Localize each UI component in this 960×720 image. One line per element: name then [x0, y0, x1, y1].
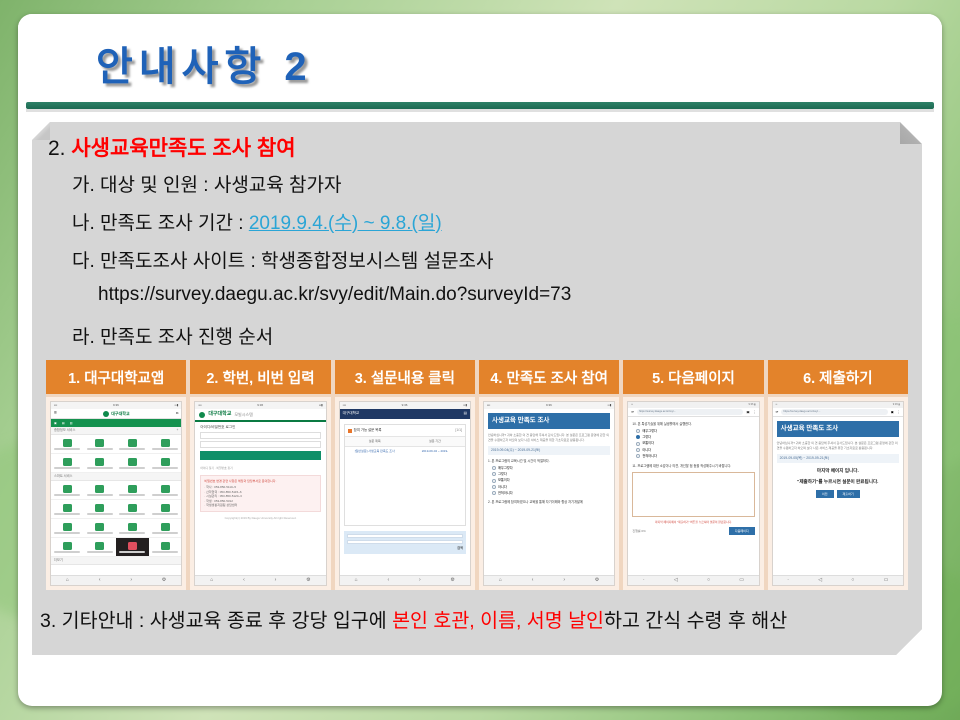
- radio-icon[interactable]: [492, 466, 496, 470]
- app-tile[interactable]: [51, 538, 84, 557]
- app-tile-label: [152, 532, 178, 534]
- browser-url-bar-5[interactable]: ⟳ https://survey.daegu.ac.kr/svy/... ▣ ⋮: [628, 408, 758, 417]
- app-section-label-1: 종합정보 서비스: [54, 428, 75, 433]
- app-tile-icon: [63, 439, 72, 447]
- app-tile-icon: [63, 504, 72, 512]
- menu-icon[interactable]: ▤: [464, 411, 467, 416]
- app-tile-icon: [128, 439, 137, 447]
- app-name-1: 대구대학교: [111, 411, 129, 417]
- survey-option[interactable]: 전혀아니다: [636, 454, 754, 459]
- survey-option[interactable]: 보통이다: [492, 478, 610, 483]
- list-label-na: 만족도 조사 기간 :: [100, 213, 249, 234]
- home-icon[interactable]: ⌂: [499, 577, 502, 585]
- survey-list-card: 참여 가능 설문 목록 [1/1] 설문 제목 설문 기간 [일반설문] 사생교…: [344, 424, 466, 526]
- bullet-square-icon: [348, 429, 352, 433]
- logo-mark-icon: [199, 412, 205, 418]
- app-tile[interactable]: [84, 500, 117, 519]
- survey-comment-textarea[interactable]: [632, 472, 754, 517]
- page-title: 안내사항 2: [96, 34, 313, 92]
- login-notice-title: 비밀번호 변경 관련 사항은 해당과 담당부서로 문의합니다.: [204, 479, 316, 484]
- portal-brand: 대구대학교: [208, 411, 231, 419]
- list-text-ga: 대상 및 인원 : 사생교육 참가자: [100, 175, 341, 196]
- footer-pre-text: 기타안내 : 사생교육 종료 후 강당 입구에: [56, 610, 392, 632]
- phone-frame-6: ▪▪9:36 ▮ ⟳ https://survey.daegu.ac.kr/sv…: [772, 401, 904, 586]
- overflow-menu-icon[interactable]: ⋮: [752, 410, 755, 415]
- radio-icon[interactable]: [492, 491, 496, 495]
- login-form-label: 아이디/비밀번호 로그인: [195, 422, 325, 430]
- slide-card: 안내사항 2 2. 사생교육만족도 조사 참여 가. 대상 및 인원 : 사생교…: [18, 14, 942, 706]
- previous-button[interactable]: 이전: [816, 490, 834, 499]
- app-tile[interactable]: [116, 519, 149, 538]
- option-label: 보통이다: [642, 441, 654, 446]
- app-section-1: 종합정보 서비스 +: [51, 427, 181, 435]
- step-header-4[interactable]: 4. 만족도 조사 참여: [479, 360, 619, 394]
- app-tile-icon: [95, 542, 104, 550]
- phone-body-6: 사생교육 만족도 조사 안녕하십니까? 귀하 소중한 의 견 응답해 주셔서 감…: [773, 417, 903, 575]
- app-tile[interactable]: [84, 538, 117, 557]
- last-page-message-2: "제출하기"를 누르시면 설문이 완료됩니다.: [779, 478, 897, 485]
- phone-frame-3: ▪▪▪9:36▪▪▮ 대구대학교 ▤ 참여 가능 설문 목록 [1/1]: [339, 401, 471, 586]
- app-tile-label: [119, 513, 145, 515]
- submit-warning-text: 마지막 페이지에서 "제출하기" 버튼을 누르셔야 설문이 완료됩니다.: [632, 520, 754, 524]
- survey-title-banner: 사생교육 만족도 조사: [488, 413, 610, 429]
- section-heading: 2. 사생교육만족도 조사 참여: [48, 132, 296, 162]
- app-tile-label: [152, 513, 178, 515]
- app-tile[interactable]: [84, 519, 117, 538]
- app-tile-label: [152, 448, 178, 450]
- app-tile-icon: [161, 504, 170, 512]
- step-header-1[interactable]: 1. 대구대학교앱: [46, 360, 186, 394]
- tabs-icon[interactable]: ▣: [891, 410, 894, 415]
- progress-label: 진행률 0%: [632, 529, 645, 534]
- option-label: 매우그렇다: [642, 429, 657, 434]
- app-tile-label: [119, 448, 145, 450]
- app-tile-label: [87, 448, 113, 450]
- phone-frame-5: ▪▪9:36 ▮ ⟳ https://survey.daegu.ac.kr/sv…: [627, 401, 759, 586]
- app-tile-label: [54, 513, 80, 515]
- survey-list-paging: [1/1]: [455, 428, 462, 433]
- step-screenshot-6: ▪▪9:36 ▮ ⟳ https://survey.daegu.ac.kr/sv…: [768, 397, 908, 590]
- login-password-input[interactable]: [200, 441, 320, 448]
- survey-row-period: 2019-09-04 ~ 2019-: [405, 447, 465, 456]
- search-field-row-1[interactable]: [347, 534, 463, 538]
- back-icon[interactable]: ‹: [99, 577, 101, 585]
- app-tile-icon: [95, 439, 104, 447]
- steps-table: 1. 대구대학교앱 2. 학번, 비번 입력 3. 설문내용 클릭 4. 만족도…: [46, 360, 908, 590]
- option-label: 아니다: [498, 485, 507, 490]
- survey-table-row[interactable]: [일반설문] 사생교육 만족도 조사 2019-09-04 ~ 2019-: [345, 447, 465, 456]
- browser-url-bar-6[interactable]: ⟳ https://survey.daegu.ac.kr/svy/... ▣ ⋮: [773, 408, 903, 417]
- survey-title-banner-6: 사생교육 만족도 조사: [777, 421, 899, 437]
- survey-period: 2019-09-04(수) ~ 2019-09-21(토): [488, 446, 610, 455]
- phone-frame-2: ▪▪▪9:36▪▪▮ 대구대학교 모빌시스템 아이디/비밀번호 로그인: [194, 401, 326, 586]
- tabs-icon[interactable]: ▣: [746, 410, 749, 415]
- app-tile-label: [152, 467, 178, 469]
- radio-icon[interactable]: [636, 442, 640, 446]
- survey-question-1: 1. 본 프로그램의 교육시간 및 시간이 적절하다.: [488, 459, 610, 464]
- app-quickbar: ▣▤▥: [51, 419, 181, 427]
- app-tile-icon: [128, 485, 137, 493]
- step-header-5[interactable]: 5. 다음페이지: [623, 360, 763, 394]
- app-tile-survey-highlighted[interactable]: [116, 538, 149, 557]
- app-tile-icon: [95, 458, 104, 466]
- app-tile-label: [54, 494, 80, 496]
- last-page-message-1: 마지막 페이지 입니다.: [779, 467, 897, 474]
- external-link-icon[interactable]: ⧉: [176, 411, 178, 416]
- survey-list-title-row: 참여 가능 설문 목록 [1/1]: [345, 425, 465, 436]
- list-marker-da: 다.: [72, 251, 95, 272]
- settings-icon[interactable]: ⚙: [306, 577, 310, 585]
- home-icon[interactable]: ⌂: [355, 577, 358, 585]
- nav-bar-6: · ◁ ○ ▭: [773, 575, 903, 585]
- app-tile[interactable]: [51, 519, 84, 538]
- app-tile-icon: [128, 523, 137, 531]
- list-marker-na: 나.: [72, 213, 95, 234]
- survey-description-6: 안녕하십니까? 귀하 소중한 의 견 응답해 주셔서 감사드립니다. 본 설문은…: [777, 441, 899, 451]
- step-header-6[interactable]: 6. 제출하기: [768, 360, 908, 394]
- recent-apps-icon[interactable]: ▭: [739, 577, 744, 585]
- portal-system-name: 모빌시스템: [234, 412, 252, 418]
- app-tile[interactable]: [84, 435, 117, 454]
- app-tile-label: [87, 551, 113, 553]
- refresh-icon[interactable]: ⟳: [776, 410, 779, 415]
- survey-tile-icon: [128, 542, 137, 550]
- app-tile-icon: [161, 523, 170, 531]
- step-screenshot-1: ▪▪▪9:36▪▪▮ ☰ 대구대학교 ⧉ ▣▤▥: [46, 397, 186, 590]
- section-number: 2.: [48, 137, 66, 160]
- home-icon[interactable]: ⌂: [210, 577, 213, 585]
- login-button[interactable]: [200, 451, 320, 460]
- app-tile[interactable]: [116, 500, 149, 519]
- login-help-links[interactable]: 아이디 찾기 · 비밀번호 찾기: [195, 463, 325, 470]
- app-tile[interactable]: [149, 454, 182, 473]
- survey-app-header: 대구대학교 ▤: [340, 409, 470, 419]
- back-icon[interactable]: ◁: [674, 577, 678, 585]
- radio-icon-selected[interactable]: [636, 435, 640, 439]
- survey-table-header: 설문 제목 설문 기간: [345, 436, 465, 447]
- survey-url[interactable]: https://survey.daegu.ac.kr/svy/edit/Main…: [98, 284, 571, 306]
- app-tile-label: [87, 467, 113, 469]
- survey-description: 안녕하십니까? 귀하 소중한 의 견 응답해 주셔서 감사드립니다. 본 설문은…: [488, 433, 610, 443]
- login-notice-box: 비밀번호 변경 관련 사항은 해당과 담당부서로 문의합니다. · 학사 : 0…: [200, 475, 320, 512]
- nav-bar-5: · ◁ ○ ▭: [628, 575, 758, 585]
- option-label: 아니다: [642, 448, 651, 453]
- app-tile-icon: [128, 504, 137, 512]
- app-tile-icon: [161, 458, 170, 466]
- app-tile-icon: [128, 458, 137, 466]
- footer-post-text: 하고 간식 수령 후 해산: [604, 610, 787, 632]
- app-tile[interactable]: [51, 454, 84, 473]
- app-tile[interactable]: [51, 435, 84, 454]
- phone-body-1: ☰ 대구대학교 ⧉ ▣▤▥ 종합정보 서비스 +: [51, 409, 181, 575]
- option-label: 전혀아니다: [642, 454, 657, 459]
- survey-row-title[interactable]: [일반설문] 사생교육 만족도 조사: [345, 447, 405, 456]
- back-icon[interactable]: ◁: [818, 577, 822, 585]
- survey-question-2: 2. 본 프로그램에 참여하였으나 교육을 통해 자기이해와 향상 자기개발에: [488, 500, 610, 505]
- app-tile-label: [54, 467, 80, 469]
- app-tile-icon: [63, 523, 72, 531]
- footer-note: 3. 기타안내 : 사생교육 종료 후 강당 입구에 본인 호관, 이름, 서명…: [40, 604, 914, 633]
- portal-header: 대구대학교 모빌시스템: [195, 409, 325, 422]
- survey-option-selected[interactable]: 그렇다: [636, 435, 754, 440]
- title-zone: 안내사항 2: [18, 14, 942, 102]
- app-tile-icon: [63, 458, 72, 466]
- app-icon-grid-1: [51, 435, 181, 473]
- step-screenshot-4: ▪▪▪9:36▪▪▮ 사생교육 만족도 조사 안녕하십니까? 귀하 소중한 의 …: [479, 397, 619, 590]
- list-item-ra: 라. 만족도 조사 진행 순서: [72, 322, 273, 349]
- app-tile[interactable]: [84, 454, 117, 473]
- section-heading-text: 사생교육만족도 조사 참여: [71, 137, 295, 160]
- submit-button[interactable]: 제출하기: [837, 490, 860, 499]
- step-screenshot-2: ▪▪▪9:36▪▪▮ 대구대학교 모빌시스템 아이디/비밀번호 로그인: [190, 397, 330, 590]
- url-field-5[interactable]: https://survey.daegu.ac.kr/svy/...: [637, 409, 743, 415]
- panel-corner-fold-top-right: [900, 122, 922, 144]
- survey-period-6: 2019-09-05(목) ~ 2019-09-21(토): [777, 454, 899, 463]
- app-tile-label: [152, 551, 178, 553]
- app-tile-label: [87, 532, 113, 534]
- app-tile-label: [152, 494, 178, 496]
- radio-icon[interactable]: [492, 472, 496, 476]
- step-screenshot-5: ▪▪9:36 ▮ ⟳ https://survey.daegu.ac.kr/sv…: [623, 397, 763, 590]
- app-tile[interactable]: [149, 481, 182, 500]
- column-header-period: 설문 기간: [405, 437, 465, 446]
- back-icon[interactable]: ‹: [532, 577, 534, 585]
- option-label: 그렇다: [642, 435, 651, 440]
- option-label: 그렇다: [498, 472, 507, 477]
- dot-icon: ·: [787, 577, 789, 585]
- footer-highlight-text: 본인 호관, 이름, 서명 날인: [392, 610, 604, 632]
- nav-bar-4: ⌂ ‹ › ⚙: [484, 575, 614, 585]
- list-item-da: 다. 만족도조사 사이트 : 학생종합정보시스템 설문조사: [72, 246, 494, 273]
- app-tile[interactable]: [51, 481, 84, 500]
- app-header-1: ☰ 대구대학교 ⧉: [51, 409, 181, 419]
- app-tile[interactable]: [84, 481, 117, 500]
- app-tile[interactable]: [149, 538, 182, 557]
- phone-body-3: 대구대학교 ▤ 참여 가능 설문 목록 [1/1] 설문 제: [340, 409, 470, 575]
- app-tile-icon: [95, 523, 104, 531]
- list-item-ga: 가. 대상 및 인원 : 사생교육 참가자: [72, 170, 341, 197]
- app-section-label-2: 스마트 서비스: [54, 474, 72, 479]
- contact-item: · 학생생활지원팀 상담센터: [204, 503, 316, 508]
- app-more-label[interactable]: 더보기: [54, 558, 63, 563]
- app-tile[interactable]: [116, 435, 149, 454]
- settings-icon[interactable]: ⚙: [451, 577, 455, 585]
- survey-brand: 대구대학교: [343, 411, 360, 416]
- home-icon[interactable]: ○: [707, 577, 710, 585]
- step-screenshot-3: ▪▪▪9:36▪▪▮ 대구대학교 ▤ 참여 가능 설문 목록 [1/1]: [335, 397, 475, 590]
- app-tile-label: [54, 551, 80, 553]
- add-icon[interactable]: +: [176, 428, 178, 433]
- app-tile-icon: [95, 504, 104, 512]
- app-tile[interactable]: [116, 454, 149, 473]
- app-tile-label: [119, 532, 145, 534]
- forward-icon[interactable]: ›: [563, 577, 565, 585]
- home-icon[interactable]: ⌂: [66, 577, 69, 585]
- forward-icon[interactable]: ›: [275, 577, 277, 585]
- phone-body-4: 사생교육 만족도 조사 안녕하십니까? 귀하 소중한 의 견 응답해 주셔서 감…: [484, 409, 614, 575]
- radio-icon[interactable]: [636, 454, 640, 458]
- option-label: 전혀아니다: [498, 491, 513, 496]
- survey-list-empty-space: [345, 455, 465, 525]
- list-text-da: 만족도조사 사이트 : 학생종합정보시스템 설문조사: [100, 251, 493, 272]
- phone-frame-1: ▪▪▪9:36▪▪▮ ☰ 대구대학교 ⧉ ▣▤▥: [50, 401, 182, 586]
- app-tile-icon: [161, 439, 170, 447]
- survey-option[interactable]: 매우그렇다: [636, 429, 754, 434]
- list-item-na: 나. 만족도 조사 기간 : 2019.9.4.(수) ~ 9.8.(일): [72, 208, 442, 235]
- app-section-3: 더보기: [51, 557, 181, 565]
- app-tile[interactable]: [116, 481, 149, 500]
- status-bar-2: ▪▪▪9:36▪▪▮: [195, 402, 325, 409]
- status-bar-1: ▪▪▪9:36▪▪▮: [51, 402, 181, 409]
- app-tile-icon: [161, 542, 170, 550]
- app-tile[interactable]: [149, 519, 182, 538]
- survey-option[interactable]: 아니다: [492, 485, 610, 490]
- survey-option[interactable]: 보통이다: [636, 441, 754, 446]
- app-tile-icon: [95, 485, 104, 493]
- status-bar-4: ▪▪▪9:36▪▪▮: [484, 402, 614, 409]
- phone-body-5: 10. 본 특성기술을 위해 실생활에서 실행한다. 매우그렇다 그렇다 보통이…: [628, 417, 758, 575]
- survey-question-10: 10. 본 특성기술을 위해 실생활에서 실행한다.: [632, 422, 754, 427]
- survey-question-11: 11. 프로그램에 대한 소감이나 의견, 개선할 점 등을 작성해주시기 바랍…: [632, 464, 754, 469]
- app-tile-label: [54, 448, 80, 450]
- overflow-menu-icon[interactable]: ⋮: [897, 410, 900, 415]
- settings-icon[interactable]: ⚙: [595, 577, 599, 585]
- app-tile-label: [119, 494, 145, 496]
- survey-option[interactable]: 전혀아니다: [492, 491, 610, 496]
- survey-period-link[interactable]: 2019.9.4.(수) ~ 9.8.(일): [249, 213, 442, 234]
- app-tile[interactable]: [149, 435, 182, 454]
- list-marker-ga: 가.: [72, 175, 95, 196]
- radio-icon[interactable]: [492, 479, 496, 483]
- status-bar-3: ▪▪▪9:36▪▪▮: [340, 402, 470, 409]
- app-tile-icon: [161, 485, 170, 493]
- content-panel: 2. 사생교육만족도 조사 참여 가. 대상 및 인원 : 사생교육 참가자 나…: [32, 122, 922, 655]
- forward-icon[interactable]: ›: [419, 577, 421, 585]
- app-icon-grid-2: [51, 481, 181, 557]
- survey-search-panel: 검색: [344, 531, 466, 554]
- radio-icon[interactable]: [492, 485, 496, 489]
- app-tile-label: [119, 551, 145, 553]
- survey-footer-bar-5: 진행률 0% 다음페이지: [632, 527, 754, 536]
- survey-list-title: 참여 가능 설문 목록: [354, 428, 382, 433]
- phone-body-2: 대구대학교 모빌시스템 아이디/비밀번호 로그인 아이디 찾기 · 비밀번호 찾…: [195, 409, 325, 575]
- app-tile-label: [54, 532, 80, 534]
- app-tile-label: [87, 513, 113, 515]
- phone-frame-4: ▪▪▪9:36▪▪▮ 사생교육 만족도 조사 안녕하십니까? 귀하 소중한 의 …: [483, 401, 615, 586]
- refresh-icon[interactable]: ⟳: [631, 410, 634, 415]
- radio-icon[interactable]: [636, 429, 640, 433]
- list-text-ra: 만족도 조사 진행 순서: [100, 327, 273, 348]
- survey-action-buttons: 이전 제출하기: [773, 490, 903, 499]
- settings-icon[interactable]: ⚙: [162, 577, 166, 585]
- radio-icon[interactable]: [636, 448, 640, 452]
- search-button[interactable]: 검색: [347, 546, 463, 551]
- back-icon[interactable]: ‹: [243, 577, 245, 585]
- back-icon[interactable]: ‹: [387, 577, 389, 585]
- option-label: 매우그렇다: [498, 466, 513, 471]
- app-tile[interactable]: [51, 500, 84, 519]
- column-header-title: 설문 제목: [345, 437, 405, 446]
- forward-icon[interactable]: ›: [130, 577, 132, 585]
- title-underline-shadow: [26, 109, 934, 112]
- step-header-3[interactable]: 3. 설문내용 클릭: [335, 360, 475, 394]
- steps-screenshot-row: ▪▪▪9:36▪▪▮ ☰ 대구대학교 ⧉ ▣▤▥: [46, 394, 908, 590]
- title-underline-rule: [26, 102, 934, 109]
- survey-option[interactable]: 매우그렇다: [492, 466, 610, 471]
- hamburger-icon[interactable]: ☰: [54, 411, 57, 416]
- login-id-input[interactable]: [200, 432, 320, 439]
- nav-bar-2: ⌂ ‹ › ⚙: [195, 575, 325, 585]
- app-tile[interactable]: [149, 500, 182, 519]
- steps-header-row: 1. 대구대학교앱 2. 학번, 비번 입력 3. 설문내용 클릭 4. 만족도…: [46, 360, 908, 394]
- survey-option[interactable]: 아니다: [636, 448, 754, 453]
- app-tile-icon: [63, 485, 72, 493]
- search-field-row-2[interactable]: [347, 540, 463, 544]
- university-logo: 대구대학교: [103, 411, 129, 417]
- app-tile-label: [87, 494, 113, 496]
- home-icon[interactable]: ○: [851, 577, 854, 585]
- app-section-2: 스마트 서비스: [51, 473, 181, 481]
- step-header-2[interactable]: 2. 학번, 비번 입력: [190, 360, 330, 394]
- survey-option[interactable]: 그렇다: [492, 472, 610, 477]
- app-tile-icon: [63, 542, 72, 550]
- app-tile-label: [119, 467, 145, 469]
- footer-number: 3.: [40, 610, 56, 632]
- logo-mark-icon: [103, 411, 109, 417]
- copyright-text: Copyright(c) 2019 By Daegu University Al…: [200, 516, 320, 520]
- nav-bar-3: ⌂ ‹ › ⚙: [340, 575, 470, 585]
- dot-icon: ·: [643, 577, 645, 585]
- url-field-6[interactable]: https://survey.daegu.ac.kr/svy/...: [781, 409, 887, 415]
- nav-bar-1: ⌂ ‹ › ⚙: [51, 575, 181, 585]
- next-page-button[interactable]: 다음페이지: [729, 527, 755, 536]
- recent-apps-icon[interactable]: ▭: [884, 577, 889, 585]
- list-marker-ra: 라.: [72, 327, 95, 348]
- option-label: 보통이다: [498, 478, 510, 483]
